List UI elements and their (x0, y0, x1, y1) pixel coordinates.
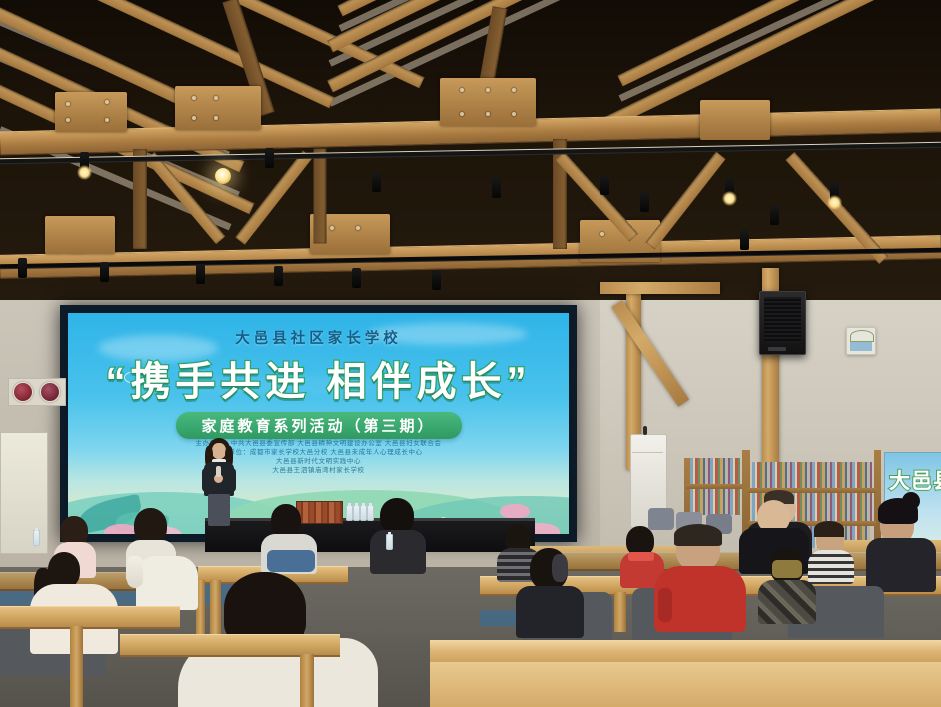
wall-information-sign (846, 327, 876, 355)
presenter-face (212, 443, 226, 459)
white-vase-on-table (127, 556, 143, 588)
spotlight (372, 172, 381, 192)
spotlight (740, 230, 749, 250)
spotlight (18, 258, 27, 278)
presenter-legs (208, 494, 230, 526)
water-bottle (353, 505, 360, 521)
table-leg (300, 654, 314, 707)
book-row-1 (690, 458, 740, 484)
left-white-cabinet (0, 432, 48, 554)
table-leg (210, 580, 221, 638)
handheld-microphone (216, 466, 221, 477)
water-bottle (360, 505, 367, 521)
person-torso (516, 586, 584, 638)
spotlight (352, 268, 361, 288)
water-bottle-on-table (33, 530, 40, 546)
spotlight (265, 148, 274, 168)
spotlight (100, 262, 109, 282)
table-front-left (0, 606, 180, 629)
water-bottle (346, 505, 353, 521)
person-torso (866, 538, 936, 592)
speaker-grill (764, 297, 801, 342)
organizer-line-1: 主办单位：中共大邑县委宣传部 大邑县精神文明建设办公室 大邑县妇女联合会 (68, 439, 569, 448)
person-torso (808, 550, 854, 584)
presenter (196, 438, 244, 528)
spotlight (432, 270, 441, 290)
presenter-arm (228, 468, 236, 492)
person-torso (136, 556, 198, 610)
wooden-header-beam (600, 282, 720, 294)
wall-emblem-left (13, 382, 33, 402)
spotlight (640, 192, 649, 212)
spotlight (770, 205, 779, 225)
spotlight (80, 152, 89, 172)
person-head (134, 508, 167, 544)
presenter-arm (202, 468, 210, 492)
books-stack-on-stage (296, 501, 343, 524)
spotlight (274, 266, 283, 286)
wall-loudspeaker (759, 291, 806, 355)
spotlight-lit (725, 178, 734, 198)
person-head (271, 504, 301, 537)
water-bottle (367, 505, 374, 521)
side-banner-text: 大邑县 (889, 465, 941, 495)
podium-microphone-icon (643, 426, 647, 435)
person-head (380, 498, 414, 534)
table-leg (70, 626, 83, 707)
person-head (48, 552, 80, 588)
water-bottle-on-table (386, 534, 393, 550)
screen-header-text: 大邑县社区家长学校 (68, 327, 569, 348)
spotlight-lit (830, 182, 839, 202)
person-torso (758, 580, 816, 624)
table-foreground-surface (430, 662, 941, 707)
table-leg (614, 592, 626, 632)
spotlight (492, 178, 501, 198)
wall-emblem-right (40, 382, 60, 402)
screen-main-title: “携手共进 相伴成长” (68, 349, 569, 407)
ceiling-bulb-lit (215, 168, 231, 184)
person-torso (370, 530, 426, 574)
spotlight (600, 175, 609, 195)
photo-scene: 大邑县社区家长学校 “携手共进 相伴成长” 家庭教育系列活动（第三期） 主办单位… (0, 0, 941, 707)
spotlight (196, 264, 205, 284)
screen-subtitle-banner: 家庭教育系列活动（第三期） (175, 412, 461, 439)
book-row-3 (752, 462, 872, 488)
wooden-truss-ceiling (0, 0, 941, 300)
